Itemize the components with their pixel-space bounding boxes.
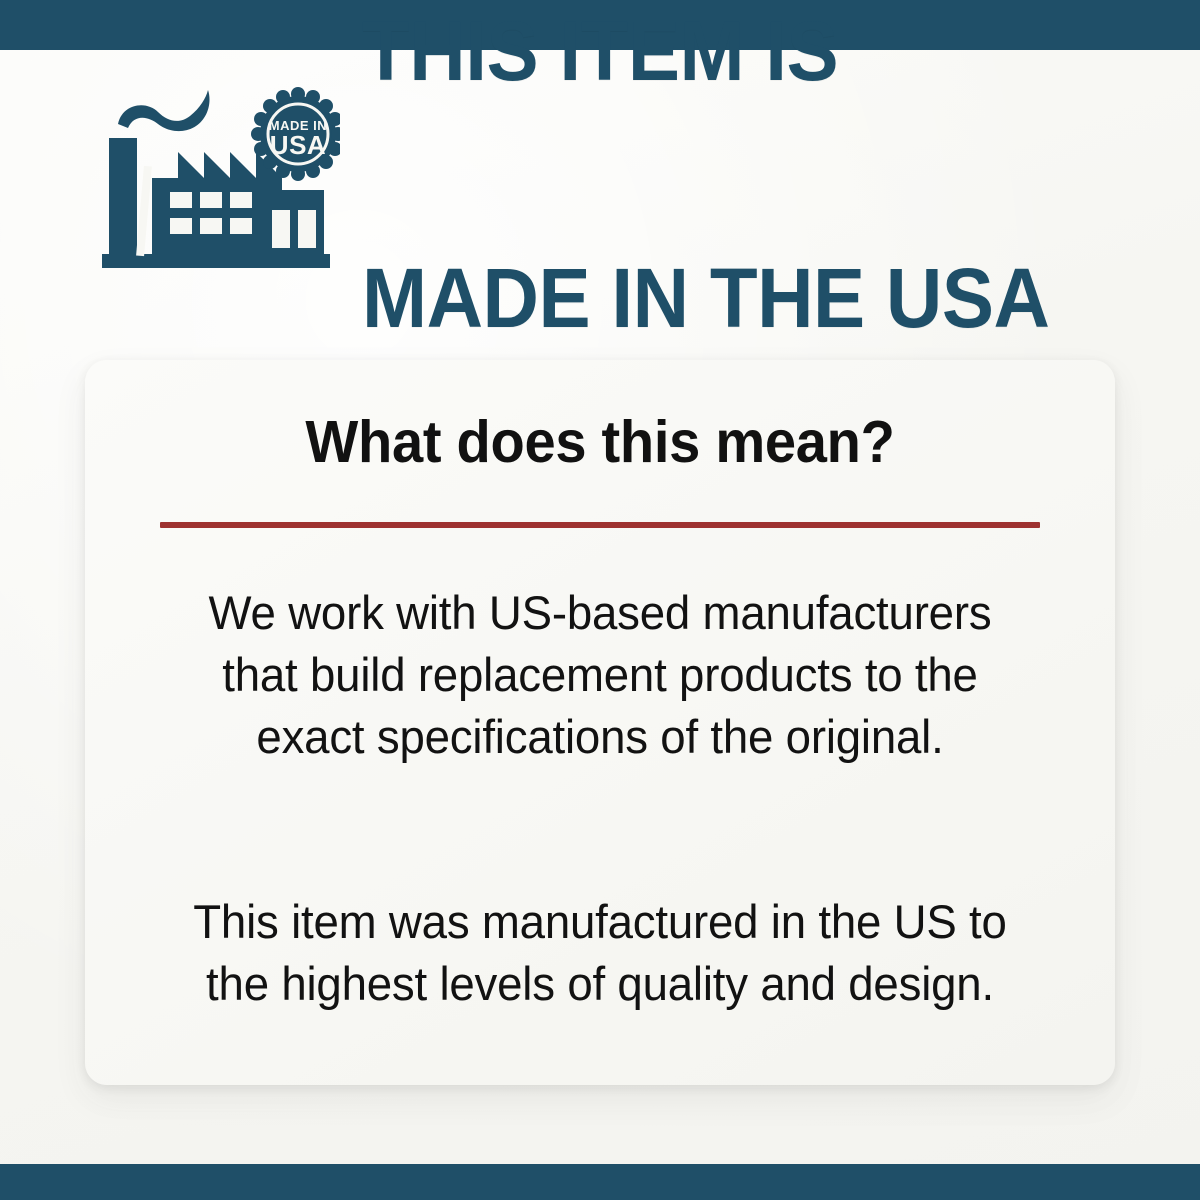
card-heading: What does this mean? (177, 412, 1023, 474)
smokestack-shape (109, 138, 137, 254)
card-paragraph: We work with US-based manufacturers that… (168, 582, 1031, 768)
factory-base-shape (102, 254, 330, 268)
badge-usa-text: USA (270, 130, 326, 160)
page-title-line-2: MADE IN THE USA (362, 257, 1049, 339)
info-card: What does this mean? We work with US-bas… (85, 360, 1115, 1085)
smoke-plume-shape (118, 90, 210, 131)
card-divider (160, 522, 1040, 528)
bottom-accent-band (0, 1164, 1200, 1200)
factory-icon: MADE IN USA (100, 86, 340, 271)
header-banner: MADE IN USA THIS ITEM IS MADE IN THE USA (0, 50, 1200, 300)
card-paragraph: This item was manufactured in the US to … (168, 891, 1031, 1015)
page-title-line-1: THIS ITEM IS (362, 10, 1049, 92)
card-body: We work with US-based manufacturers that… (155, 582, 1045, 1015)
